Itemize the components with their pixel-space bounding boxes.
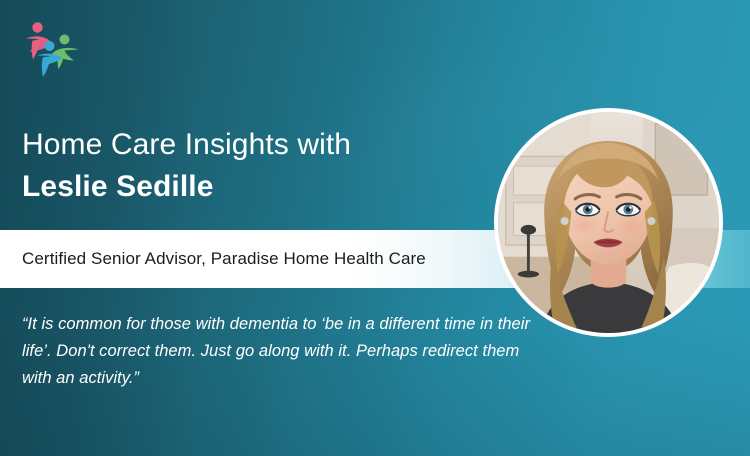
subtitle-text: Certified Senior Advisor, Paradise Home … — [22, 249, 426, 269]
title-line-primary: Home Care Insights with — [22, 130, 351, 160]
home-care-insights-banner: Home Care Insights with Leslie Sedille C… — [0, 0, 750, 456]
avatar — [494, 108, 723, 337]
three-figures-logo — [16, 18, 88, 80]
title-line-name: Leslie Sedille — [22, 172, 351, 202]
page-title: Home Care Insights with Leslie Sedille — [22, 130, 351, 202]
quote-text: “It is common for those with dementia to… — [22, 311, 532, 392]
